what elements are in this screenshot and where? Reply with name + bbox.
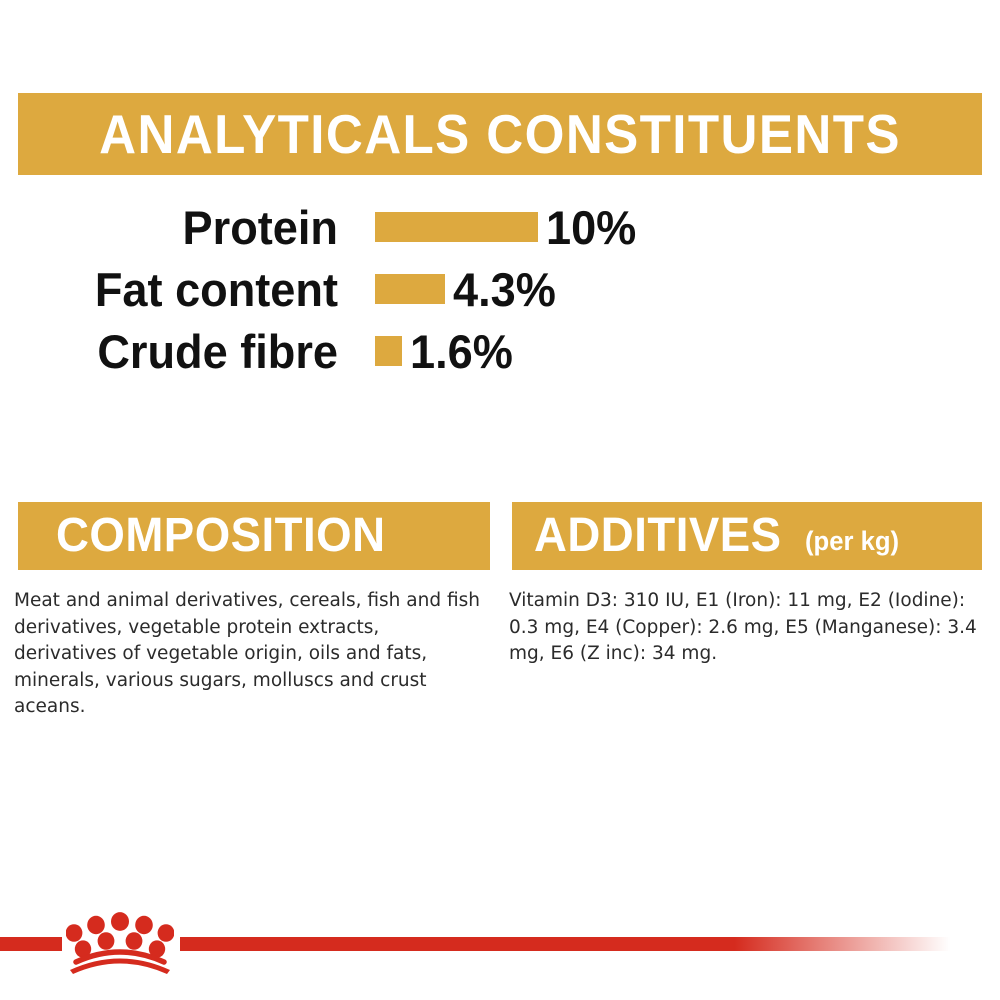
composition-body-text: Meat and animal derivatives, cereals, fi… — [14, 588, 484, 721]
additives-title: ADDITIVES — [534, 512, 782, 560]
constituent-bar-fat-content — [375, 274, 445, 304]
composition-header: COMPOSITION — [18, 502, 490, 570]
constituent-label-fat-content: Fat content — [14, 266, 338, 313]
table-row: Protein 10% — [0, 196, 1000, 258]
constituent-label-crude-fibre: Crude fibre — [14, 328, 338, 375]
constituent-value-fat-content: 4.3% — [453, 266, 556, 313]
constituent-bar-track-fat-content: 4.3% — [375, 266, 560, 313]
constituent-value-crude-fibre: 1.6% — [410, 328, 513, 375]
constituent-bar-crude-fibre — [375, 336, 402, 366]
constituents-chart: Protein 10% Fat content 4.3% Crude fibre… — [0, 196, 1000, 382]
page-title: ANALYTICALS CONSTITUENTS — [99, 107, 901, 162]
constituent-bar-track-crude-fibre: 1.6% — [375, 328, 517, 375]
additives-body-text: Vitamin D3: 310 IU, E1 (Iron): 11 mg, E2… — [509, 588, 991, 668]
constituent-bar-protein — [375, 212, 538, 242]
additives-unit-note: (per kg) — [805, 528, 899, 555]
analytical-constituents-banner: ANALYTICALS CONSTITUENTS — [18, 93, 982, 175]
composition-title: COMPOSITION — [56, 512, 386, 560]
constituent-label-protein: Protein — [14, 204, 338, 251]
table-row: Fat content 4.3% — [0, 258, 1000, 320]
footer-rule-left — [0, 937, 62, 951]
table-row: Crude fibre 1.6% — [0, 320, 1000, 382]
constituent-bar-track-protein: 10% — [375, 204, 640, 251]
constituent-value-protein: 10% — [546, 204, 636, 251]
additives-header: ADDITIVES (per kg) — [512, 502, 982, 570]
royal-canin-crown-icon — [66, 912, 174, 974]
footer-rule-right — [180, 937, 950, 951]
